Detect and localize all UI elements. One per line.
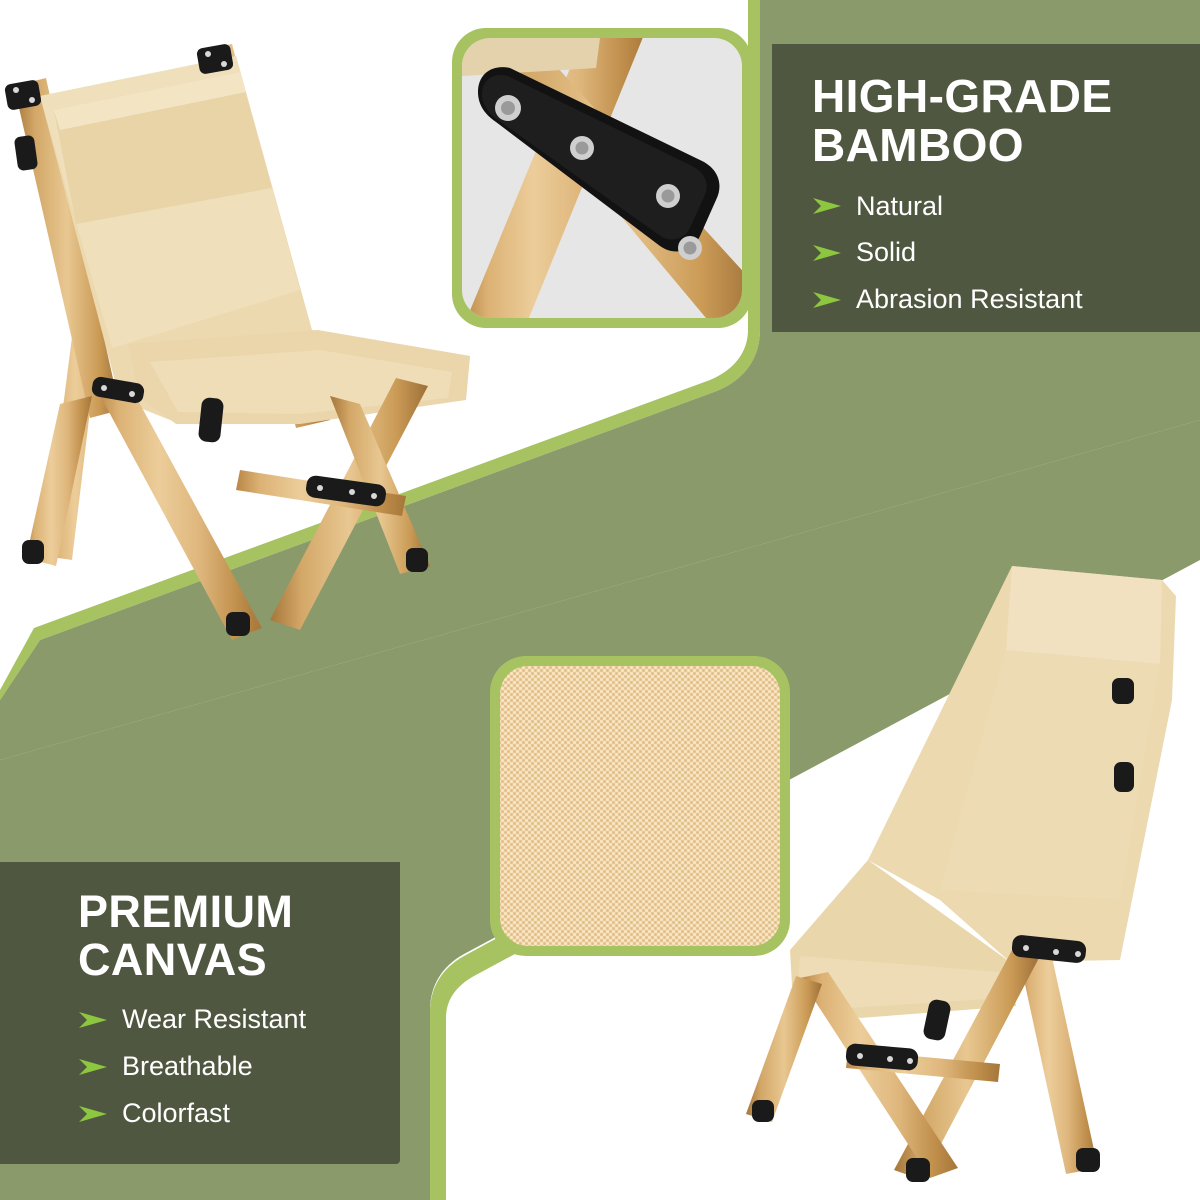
arrow-right-icon [812, 242, 842, 264]
bullet-item-wear-resistant: Wear Resistant [78, 1005, 448, 1035]
bullet-item-breathable: Breathable [78, 1052, 448, 1082]
bullet-label: Colorfast [122, 1099, 230, 1129]
side-chair-headrest [1006, 566, 1162, 664]
arrow-right-icon [812, 195, 842, 217]
bullet-label: Abrasion Resistant [856, 285, 1083, 315]
bullet-label: Wear Resistant [122, 1005, 306, 1035]
bullet-list-bamboo: Natural Solid Abrasion Resistant [812, 192, 1182, 315]
bullet-list-canvas: Wear Resistant Breathable Colorfast [78, 1005, 448, 1128]
bullet-item-colorfast: Colorfast [78, 1099, 448, 1129]
arrow-right-icon [78, 1009, 108, 1031]
headline-premium-canvas: PREMIUM CANVAS [78, 888, 448, 983]
headline-high-grade-bamboo: HIGH-GRADE BAMBOO [812, 72, 1182, 170]
panel-high-grade-bamboo: HIGH-GRADE BAMBOO Natural Solid Abrasion… [812, 72, 1182, 332]
panel-premium-canvas: PREMIUM CANVAS Wear Resistant Breathable… [78, 888, 448, 1145]
bullet-item-solid: Solid [812, 238, 1182, 268]
arrow-right-icon [78, 1056, 108, 1078]
side-leg-rear-left [746, 976, 822, 1122]
arrow-right-icon [812, 289, 842, 311]
bullet-label: Solid [856, 238, 916, 268]
bullet-item-natural: Natural [812, 192, 1182, 222]
bullet-label: Natural [856, 192, 943, 222]
bullet-item-abrasion-resistant: Abrasion Resistant [812, 285, 1182, 315]
side-leg-rear-right [1018, 948, 1098, 1174]
arrow-right-icon [78, 1103, 108, 1125]
bullet-label: Breathable [122, 1052, 253, 1082]
infographic-canvas: HIGH-GRADE BAMBOO Natural Solid Abrasion… [0, 0, 1200, 1200]
